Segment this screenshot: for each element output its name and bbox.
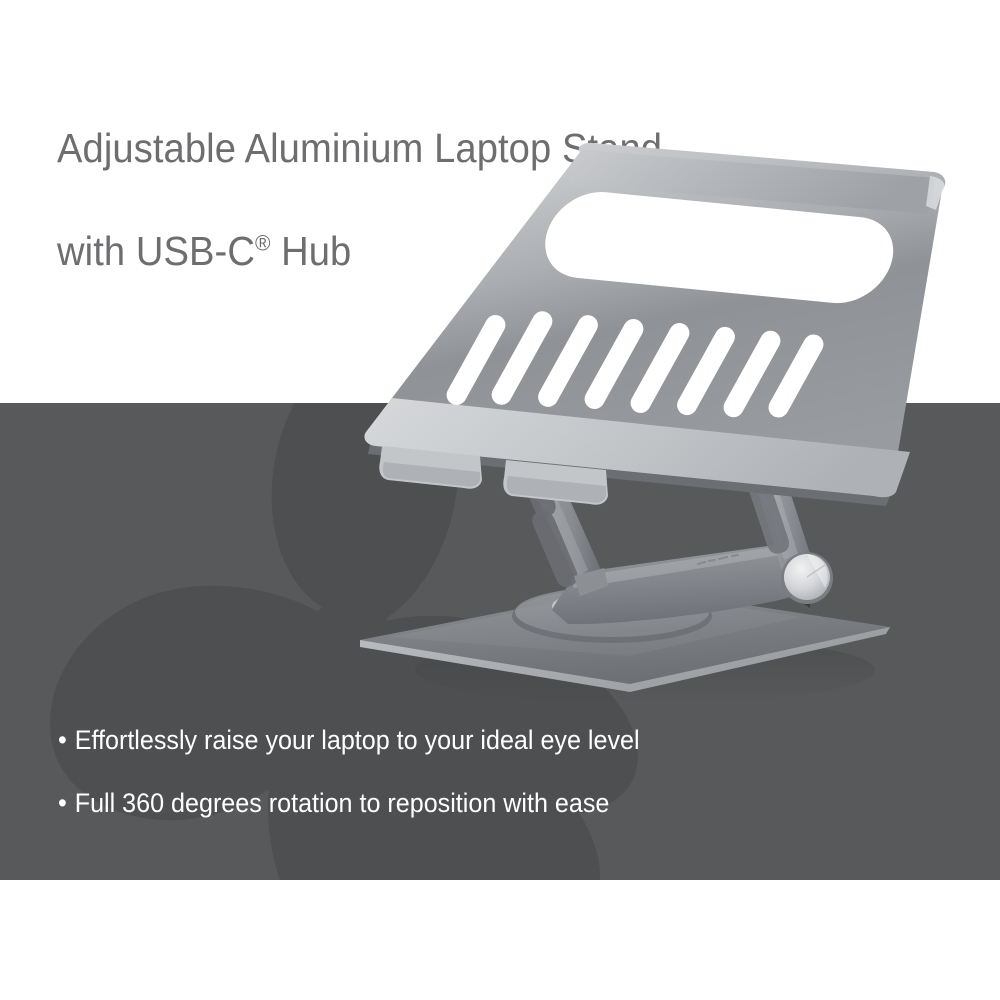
list-item: • Effortlessly raise your laptop to your… bbox=[58, 726, 876, 756]
feature-bullets: • Effortlessly raise your laptop to your… bbox=[58, 726, 938, 851]
product-image-laptop-stand bbox=[330, 140, 950, 700]
bullet-icon: • bbox=[58, 789, 75, 819]
top-plate bbox=[364, 143, 945, 506]
product-feature-slide: Adjustable Aluminium Laptop Stand with U… bbox=[0, 0, 1000, 1000]
bullet-text: Effortlessly raise your laptop to your i… bbox=[75, 726, 640, 756]
title-line-2-text: with USB-C bbox=[57, 228, 255, 274]
hinge-knob bbox=[781, 552, 833, 604]
bullet-text: Full 360 degrees rotation to reposition … bbox=[75, 789, 610, 819]
bullet-icon: • bbox=[58, 726, 75, 756]
registered-trademark-symbol: ® bbox=[255, 230, 270, 255]
list-item: • Full 360 degrees rotation to repositio… bbox=[58, 789, 876, 819]
